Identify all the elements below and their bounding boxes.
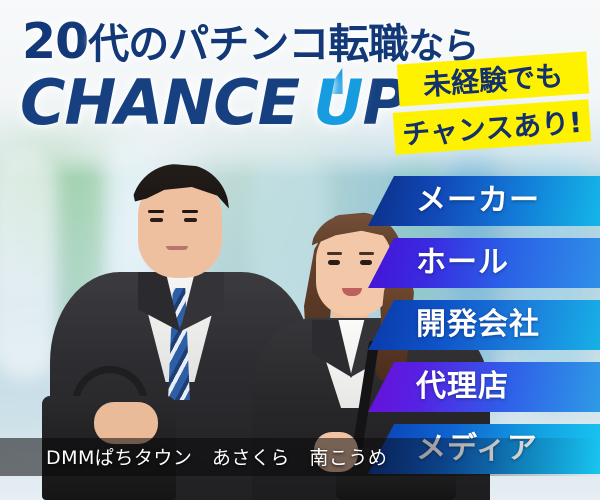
woman-eyebrow-left — [327, 252, 342, 255]
chance-up-logo: CHANCEUP — [20, 72, 407, 134]
woman-eye-left — [328, 260, 340, 265]
banner-headline: 20代のパチンコ転職なら — [22, 17, 478, 66]
man-mouth — [166, 246, 188, 250]
man-eyebrow-left — [148, 210, 164, 213]
logo-word-chance: CHANCE — [20, 66, 299, 139]
woman-eye-right — [360, 260, 372, 265]
man-eye-left — [150, 218, 163, 222]
menu-button-maker-label: メーカー — [416, 186, 540, 216]
menu-button-developer-label: 開発会社 — [416, 310, 540, 340]
man-eyebrow-right — [182, 210, 198, 213]
menu-button-maker[interactable]: メーカー — [368, 176, 600, 226]
headline-main: 代のパチンコ転職 — [88, 20, 408, 68]
badge-no-experience-label: 未経験でも — [422, 54, 564, 104]
menu-button-developer[interactable]: 開発会社 — [368, 300, 600, 350]
recruit-banner: 20代のパチンコ転職なら CHANCEUP 未経験でも チャンスあり! メーカー… — [0, 0, 600, 500]
headline-number: 20 — [22, 13, 88, 70]
woman-eyebrow-right — [359, 252, 374, 255]
caption-text: DMMぱちタウン あさくら 南こうめ — [46, 449, 387, 468]
logo-letter-u: U — [313, 66, 362, 139]
man-eye-right — [184, 218, 197, 222]
menu-button-hall-label: ホール — [416, 248, 509, 278]
menu-button-agency-label: 代理店 — [416, 372, 509, 402]
menu-button-hall[interactable]: ホール — [368, 238, 600, 288]
menu-button-agency[interactable]: 代理店 — [368, 362, 600, 412]
